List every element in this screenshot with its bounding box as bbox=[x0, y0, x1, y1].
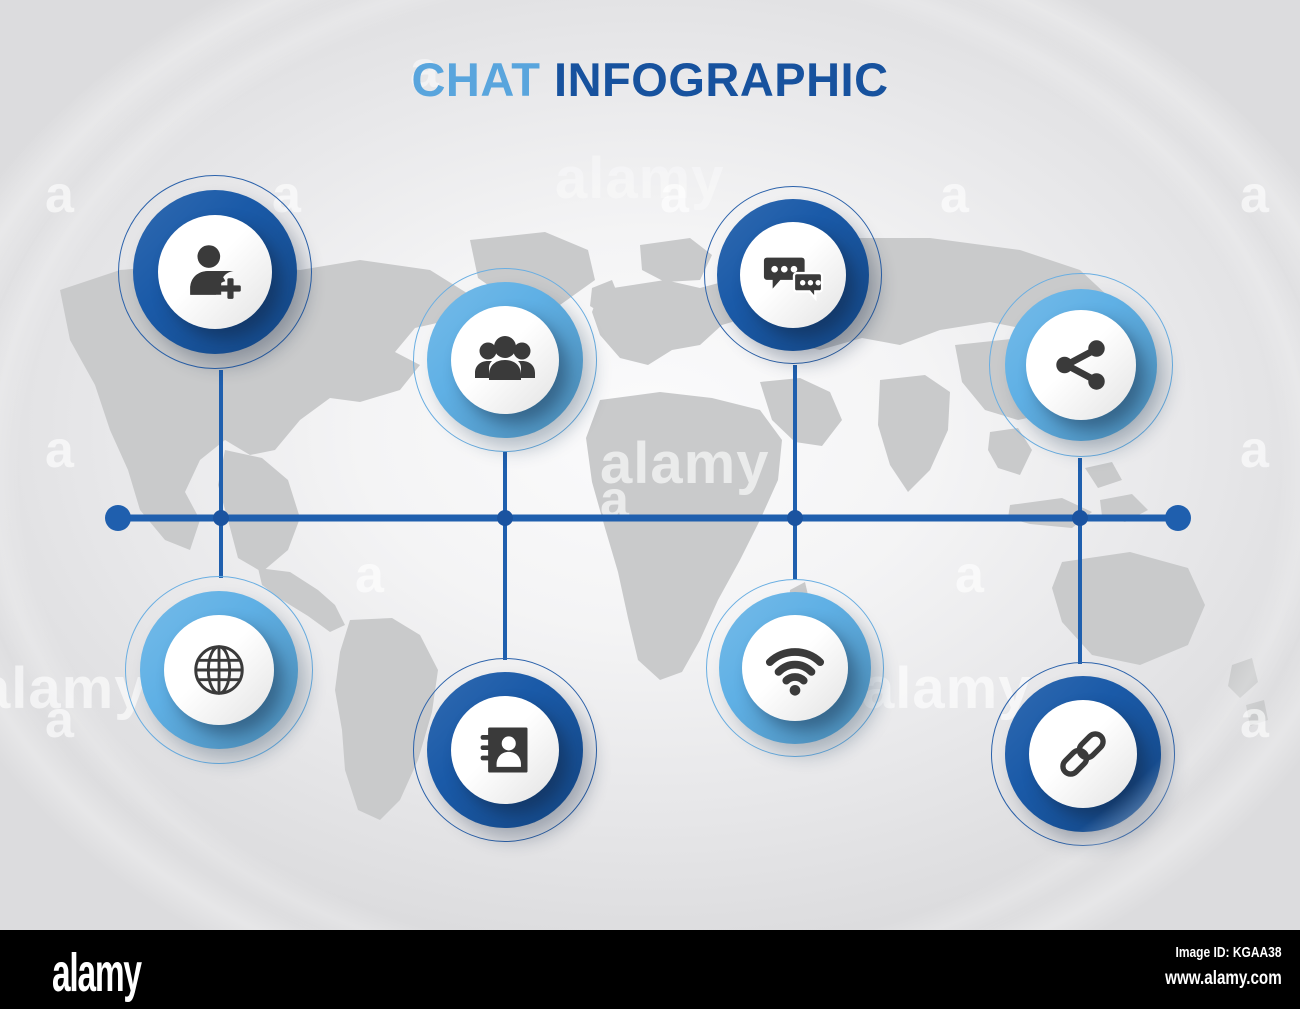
node-icon-disc bbox=[164, 615, 274, 725]
add-user-icon bbox=[182, 239, 248, 305]
alamy-logo: alamy bbox=[52, 942, 141, 1004]
timeline-end-dot bbox=[1165, 505, 1191, 531]
timeline-junction-dot bbox=[497, 510, 513, 526]
timeline-start-dot bbox=[105, 505, 131, 531]
node-icon-disc bbox=[742, 615, 848, 721]
globe-icon bbox=[188, 639, 250, 701]
image-id-label: Image ID: KGAA38 bbox=[1176, 944, 1282, 961]
node-share[interactable] bbox=[989, 273, 1173, 457]
alamy-url-label: www.alamy.com bbox=[1165, 968, 1282, 990]
contact-book-icon bbox=[475, 720, 535, 780]
node-add-user[interactable] bbox=[118, 175, 312, 369]
node-icon-disc bbox=[1029, 700, 1137, 808]
node-chat[interactable] bbox=[704, 186, 882, 364]
node-globe[interactable] bbox=[125, 576, 313, 764]
node-group-users[interactable] bbox=[413, 268, 597, 452]
chain-link-icon bbox=[1052, 723, 1114, 785]
timeline-junction-dot bbox=[1072, 510, 1088, 526]
wifi-icon bbox=[764, 637, 826, 699]
node-icon-disc bbox=[451, 306, 559, 414]
chat-bubbles-icon bbox=[762, 244, 824, 306]
infographic-screenshot: a a a a a a a a a a a a a alamy alamy al… bbox=[0, 0, 1300, 1009]
node-link[interactable] bbox=[991, 662, 1175, 846]
node-icon-disc bbox=[451, 696, 559, 804]
node-contacts[interactable] bbox=[413, 658, 597, 842]
infographic-canvas: a a a a a a a a a a a a a alamy alamy al… bbox=[0, 0, 1300, 930]
share-icon bbox=[1050, 334, 1112, 396]
footer-bar: alamy Image ID: KGAA38 www.alamy.com bbox=[0, 930, 1300, 1009]
timeline-junction-dot bbox=[213, 510, 229, 526]
group-users-icon bbox=[473, 328, 537, 392]
node-icon-disc bbox=[158, 215, 272, 329]
node-icon-disc bbox=[1026, 310, 1136, 420]
timeline-junction-dot bbox=[787, 510, 803, 526]
node-icon-disc bbox=[740, 222, 846, 328]
node-wifi[interactable] bbox=[706, 579, 884, 757]
